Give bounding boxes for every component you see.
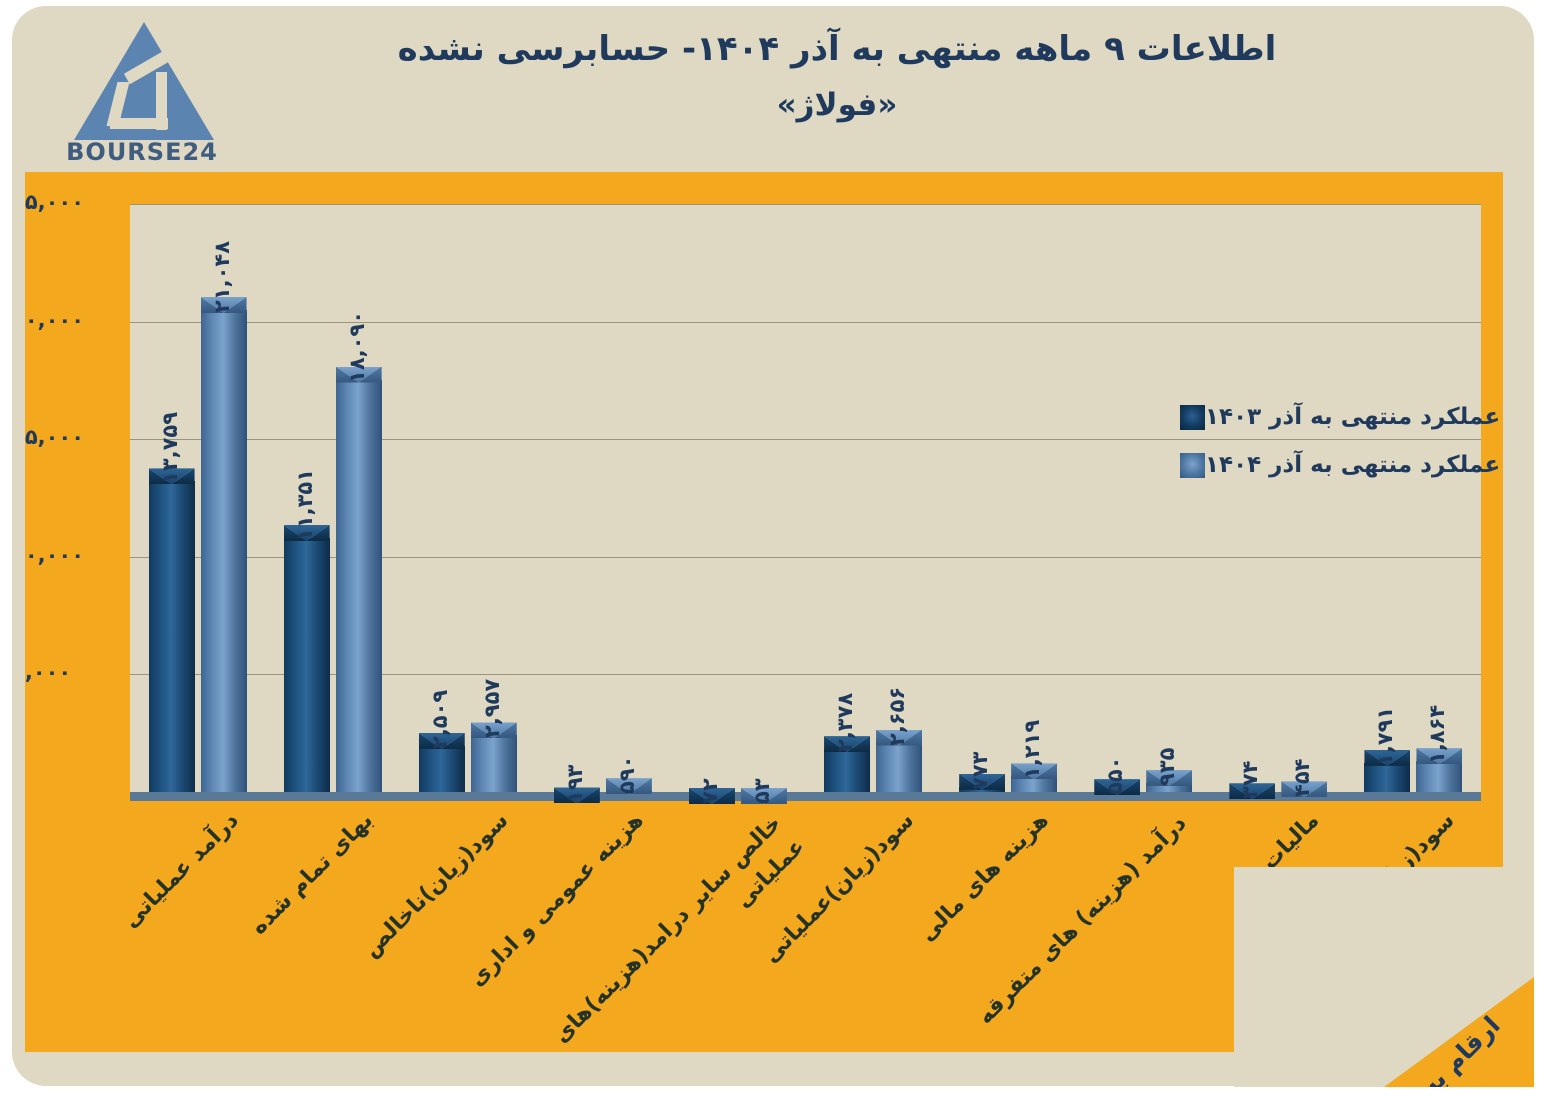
bourse24-logo: BOURSE24: [52, 20, 232, 162]
legend-label: عملکرد منتهی به آذر ۱۴۰۳: [1205, 404, 1500, 430]
x-axis-category-label: سود(زیان)ناخالص: [486, 808, 496, 818]
y-axis-tick-label: ۲۵,۰۰۰: [25, 190, 108, 214]
legend-swatch-icon: [1180, 405, 1205, 430]
bar-value-label: ۵۳: [750, 778, 774, 804]
legend-swatch-icon: [1180, 453, 1205, 478]
legend-label: عملکرد منتهی به آذر ۱۴۰۴: [1205, 452, 1500, 478]
bar-value-label: ۲,۶۵۶: [885, 686, 909, 745]
bar-value-label: ۱۳,۷۵۹: [158, 412, 182, 484]
x-axis-category-text: درآمد (هزینه) های متفرقه: [938, 808, 1195, 1052]
x-axis-category-label: هزینه عمومی و اداری: [621, 808, 631, 818]
x-axis-category-text: بهای تمام شده: [247, 808, 379, 940]
bar-value-label: ۷۲: [698, 778, 722, 804]
bar-1404: [201, 297, 247, 792]
x-axis-category-label: سود(زیان)عملیاتی: [891, 808, 901, 818]
chart-panel: ۵,۰۰۰۱۰,۰۰۰۱۵,۰۰۰۲۰,۰۰۰۲۵,۰۰۰ ۱۳,۷۵۹۲۱,۰…: [25, 172, 1503, 1052]
page-title: اطلاعات ۹ ماهه منتهی به آذر ۱۴۰۴- حسابرس…: [272, 28, 1402, 71]
bar-value-label: ۱۸,۰۹۰: [345, 310, 369, 382]
bar-value-label: ۷۷۳: [968, 751, 992, 789]
bar-value-label: ۱۱,۳۵۱: [293, 469, 317, 541]
gridline: [130, 322, 1481, 323]
y-axis-tick-label: ۱۵,۰۰۰: [25, 425, 108, 449]
bar-body: [1416, 761, 1462, 792]
gridline: [130, 674, 1481, 675]
bar-body: [471, 735, 517, 792]
bar-value-label: ۱۹۳: [563, 765, 587, 803]
bar-value-label: ۵۵۰: [1103, 757, 1127, 795]
chart-legend: عملکرد منتهی به آذر ۱۴۰۳عملکرد منتهی به …: [1164, 404, 1503, 500]
bar-body: [876, 743, 922, 792]
x-axis-category-text: سود(زیان) خالص: [1311, 808, 1459, 956]
chart-page: BOURSE24 اطلاعات ۹ ماهه منتهی به آذر ۱۴۰…: [0, 0, 1546, 1093]
x-axis-category-text: خالص سایر درامد(هزینه)های عملیاتی: [533, 808, 813, 1052]
bar-1403: [284, 525, 330, 792]
legend-item[interactable]: عملکرد منتهی به آذر ۱۴۰۴: [1164, 452, 1503, 478]
x-axis-category-label: درآمد عملیاتی: [216, 808, 226, 818]
title-block: اطلاعات ۹ ماهه منتهی به آذر ۱۴۰۴- حسابرس…: [272, 28, 1402, 123]
y-axis-tick-label: ۵,۰۰۰: [25, 660, 108, 684]
x-axis-category-label: مالیات: [1296, 808, 1306, 818]
y-axis-tick-label: ۱۰,۰۰۰: [25, 543, 108, 567]
bar-value-label: ۳۷۴: [1238, 761, 1262, 799]
bar-body: [1364, 763, 1410, 792]
x-axis-category-label: هزینه های مالی: [1026, 808, 1036, 818]
bar-body: [284, 538, 330, 792]
logo-notch-4: [156, 72, 167, 130]
bar-body: [201, 310, 247, 792]
x-axis-category-text: سود(زیان)ناخالص: [359, 808, 514, 963]
header: BOURSE24 اطلاعات ۹ ماهه منتهی به آذر ۱۴۰…: [12, 6, 1534, 172]
x-axis-category-label: خالص سایر درامد(هزینه)های عملیاتی: [756, 808, 766, 818]
bar-value-label: ۱,۲۱۹: [1020, 720, 1044, 779]
bar-value-label: ۱,۸۶۴: [1425, 705, 1449, 764]
page-subtitle: «فولاژ»: [272, 87, 1402, 123]
x-axis-baseline: [130, 792, 1481, 801]
bar-value-label: ۹۳۵: [1155, 748, 1179, 786]
bar-body: [149, 481, 195, 792]
bar-value-label: ۱,۷۹۱: [1373, 707, 1397, 766]
bar-value-label: ۲,۳۷۸: [833, 693, 857, 752]
bar-value-label: ۲,۵۰۹: [428, 690, 452, 749]
bar-value-label: ۲,۹۵۷: [480, 679, 504, 738]
bar-value-label: ۵۹۰: [615, 756, 639, 794]
logo-wordmark: BOURSE24: [52, 138, 232, 166]
legend-item[interactable]: عملکرد منتهی به آذر ۱۴۰۳: [1164, 404, 1503, 430]
bar-value-label: ۴۵۴: [1290, 759, 1314, 797]
y-axis-tick-label: ۲۰,۰۰۰: [25, 308, 108, 332]
bar-body: [419, 746, 465, 792]
x-axis-category-label: سود(زیان) خالص: [1431, 808, 1441, 818]
x-axis-category-text: هزینه های مالی: [915, 808, 1054, 947]
bar-1404: [336, 367, 382, 792]
x-axis-category-label: بهای تمام شده: [351, 808, 361, 818]
gridline: [130, 204, 1481, 205]
gridline: [130, 557, 1481, 558]
x-axis-category-text: درآمد عملیاتی: [118, 808, 243, 933]
x-axis-category-label: درآمد (هزینه) های متفرقه: [1161, 808, 1171, 818]
bar-body: [336, 380, 382, 792]
bar-body: [824, 749, 870, 792]
bar-1403: [149, 468, 195, 792]
bar-value-label: ۲۱,۰۴۸: [210, 241, 234, 313]
x-axis-category-text: مالیات: [1257, 808, 1324, 875]
